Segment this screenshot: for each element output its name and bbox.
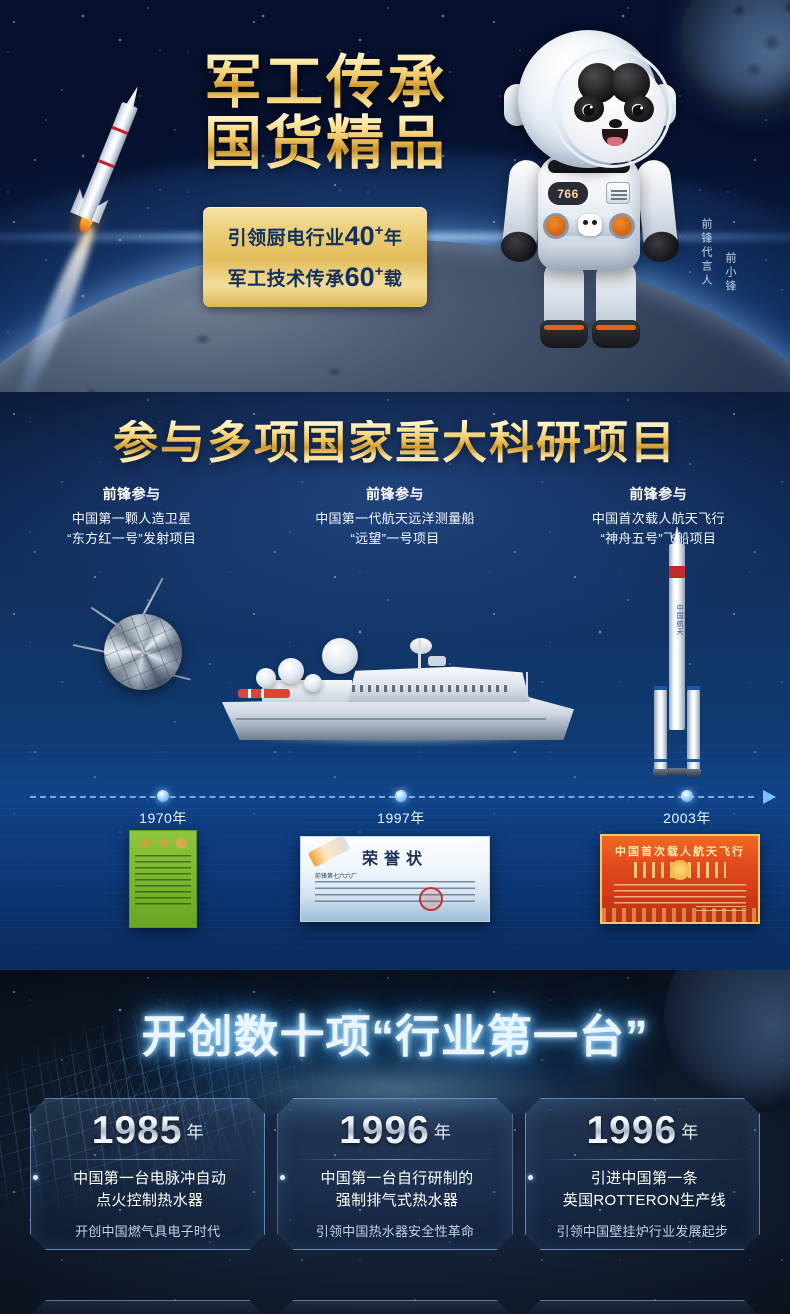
next-card-3[interactable] — [525, 1300, 760, 1314]
milestone-cards: 1985年 中国第一台电脉冲自动 点火控制热水器 开创中国燃气具电子时代 199… — [0, 1098, 790, 1250]
mascot-suit-mini-panda-icon — [578, 214, 602, 236]
panda-astronaut-mascot: 766 — [494, 22, 686, 362]
badge-row2-prefix: 军工技术传承 — [228, 269, 345, 290]
badge-row-2: 军工技术传承60+载 — [213, 257, 417, 298]
card-2-year-row: 1996年 — [288, 1111, 501, 1150]
mascot-helmet-visor — [552, 48, 672, 168]
rocket-red-band — [669, 566, 685, 578]
mascot-helmet — [518, 30, 658, 168]
mascot-panda-face — [562, 61, 666, 163]
ship-radar-dish-2 — [278, 658, 304, 684]
hero-section: 军工传承 国货精品 引领厨电行业40+年 军工技术传承60+载 766 — [0, 0, 790, 392]
mascot-mouth — [602, 129, 628, 146]
card-1-main-line-1: 中国第一台电脉冲自动 — [45, 1168, 254, 1190]
project-column-spacecraft: 前锋参与 中国首次载人航天飞行 “神舟五号”飞船项目 — [527, 484, 790, 548]
ship-aft-mast — [526, 672, 528, 698]
badge-row1-number: 40 — [345, 221, 375, 251]
rocket-body — [77, 102, 138, 221]
mascot-left-boot — [540, 320, 588, 348]
project-1-line-2: “东方红一号”发射项目 — [12, 529, 251, 549]
milestone-card-1996-water-heater[interactable]: 1996年 中国第一台自行研制的 强制排气式热水器 引领中国热水器安全性革命 — [277, 1098, 512, 1250]
mascot-right-hand — [642, 230, 681, 264]
project-column-satellite: 前锋参与 中国第一颗人造卫星 “东方红一号”发射项目 — [0, 484, 263, 548]
mascot-left-hand — [499, 230, 538, 264]
mascot-suit-right-knob — [612, 216, 632, 236]
ship-hull — [222, 696, 574, 740]
card-1-year-unit: 年 — [187, 1123, 204, 1142]
project-1-lead: 前锋参与 — [12, 484, 251, 504]
project-3-lead: 前锋参与 — [539, 484, 778, 504]
timeline-year-1997: 1997年 — [377, 808, 425, 828]
certificate-3-title: 中国首次载人航天飞行 — [615, 843, 745, 859]
card-3-main-line-1: 引进中国第一条 — [540, 1168, 749, 1190]
rocket-nozzle-center — [668, 768, 686, 776]
badge-row1-unit: 年 — [384, 228, 403, 248]
card-3-main-line-2: 英国ROTTERON生产线 — [540, 1190, 749, 1212]
card-3-subtitle: 引领中国壁挂炉行业发展起步 — [536, 1221, 749, 1240]
mascot-spacesuit-torso: 766 — [538, 154, 640, 270]
ship-lifeboats — [238, 689, 290, 698]
badge-row1-superscript: + — [375, 222, 384, 239]
card-1-main-text: 中国第一台电脉冲自动 点火控制热水器 — [41, 1168, 254, 1212]
card-2-main-text: 中国第一台自行研制的 强制排气式热水器 — [288, 1168, 501, 1212]
next-milestone-row-peek — [0, 1300, 790, 1314]
card-1-year-row: 1985年 — [41, 1111, 254, 1150]
satellite-body — [104, 614, 182, 690]
hero-title-line-1: 军工传承 — [176, 52, 476, 113]
card-3-year-row: 1996年 — [536, 1111, 749, 1150]
certificate-3-body-text — [614, 884, 746, 906]
mascot-name-label: 前小锋 — [722, 252, 738, 294]
certificate-2-body-text — [315, 881, 475, 907]
mascot-role-label: 前锋代言人 — [698, 218, 714, 288]
project-2-line-1: 中国第一代航天远洋测量船 — [275, 509, 514, 529]
badge-row2-number: 60 — [345, 262, 375, 292]
product-detail-page: 军工传承 国货精品 引领厨电行业40+年 军工技术传承60+载 766 — [0, 0, 790, 1314]
moon-image — [680, 0, 790, 114]
card-2-main-line-2: 强制排气式热水器 — [292, 1190, 501, 1212]
milestone-card-1985[interactable]: 1985年 中国第一台电脉冲自动 点火控制热水器 开创中国燃气具电子时代 — [30, 1098, 265, 1250]
mascot-nose — [609, 119, 622, 128]
certificate-green-1970[interactable] — [129, 830, 197, 928]
certificate-2-seal-stamp — [419, 887, 443, 911]
certificate-rocket-graphic — [308, 836, 351, 867]
hero-headline: 军工传承 国货精品 — [176, 52, 476, 175]
rocket-nozzle-left — [653, 769, 668, 777]
card-3-divider — [540, 1159, 745, 1160]
card-1-year: 1985 — [92, 1111, 183, 1150]
rocket-launch-image — [42, 96, 182, 366]
mascot-right-boot — [592, 320, 640, 348]
mascot-left-leg — [544, 260, 584, 348]
ship-superstructure — [340, 662, 530, 702]
timeline-year-2003: 2003年 — [663, 808, 711, 828]
national-projects-section: 参与多项国家重大科研项目 前锋参与 中国第一颗人造卫星 “东方红一号”发射项目 … — [0, 392, 790, 970]
section3-title: 开创数十项“行业第一台” — [0, 1000, 790, 1065]
project-3-line-1: 中国首次载人航天飞行 — [539, 509, 778, 529]
industry-firsts-section: 开创数十项“行业第一台” 1985年 中国第一台电脉冲自动 点火控制热水器 开创… — [0, 970, 790, 1314]
card-1-subtitle: 开创中国燃气具电子时代 — [41, 1221, 254, 1240]
badge-row2-unit: 载 — [384, 269, 403, 289]
ship-mast — [418, 638, 421, 668]
card-3-year-unit: 年 — [681, 1123, 698, 1142]
card-2-subtitle: 引领中国热水器安全性革命 — [288, 1221, 501, 1240]
rocket-booster-right — [687, 686, 700, 770]
mascot-right-arm — [635, 158, 679, 257]
rocket-booster-left — [654, 686, 667, 770]
timeline-axis — [30, 796, 754, 798]
card-2-divider — [292, 1159, 497, 1160]
card-2-year: 1996 — [339, 1111, 430, 1150]
ship-windows — [352, 685, 512, 692]
certificates-row: 荣誉状 前锋第七六六厂 中国首次载人航天飞行 — [0, 830, 790, 950]
rocket-agency-label: 中国航天 — [671, 604, 683, 636]
mascot-suit-logo-patch — [606, 182, 630, 204]
yuanwang-tracking-ship-image — [222, 628, 574, 746]
card-1-main-line-2: 点火控制热水器 — [45, 1190, 254, 1212]
card-1-bullet-icon — [33, 1175, 38, 1180]
mascot-suit-number-patch: 766 — [548, 182, 588, 205]
project-columns: 前锋参与 中国第一颗人造卫星 “东方红一号”发射项目 前锋参与 中国第一代航天远… — [0, 484, 790, 548]
certificate-3-emblem — [670, 860, 690, 880]
timeline-year-1970: 1970年 — [139, 808, 187, 828]
ship-radar-dish-4 — [304, 674, 322, 692]
mascot-right-leg — [596, 260, 636, 348]
ship-radome — [410, 638, 432, 654]
ship-radar-dish-1 — [322, 638, 358, 674]
project-timeline: 1970年 1997年 2003年 — [0, 796, 790, 797]
badge-row2-superscript: + — [375, 263, 384, 280]
card-3-year: 1996 — [586, 1111, 677, 1150]
timeline-dot-2003 — [681, 790, 693, 802]
timeline-dot-1970 — [157, 790, 169, 802]
card-2-year-unit: 年 — [434, 1123, 451, 1142]
card-2-bullet-icon — [280, 1175, 285, 1180]
card-3-main-text: 引进中国第一条 英国ROTTERON生产线 — [536, 1168, 749, 1212]
certificate-red-2003[interactable]: 中国首次载人航天飞行 — [600, 834, 760, 924]
hero-credentials-badge: 引领厨电行业40+年 军工技术传承60+载 — [203, 207, 427, 307]
ship-mast-platform — [428, 656, 446, 666]
long-march-rocket-image: 中国航天 — [648, 544, 706, 770]
card-3-bullet-icon — [528, 1175, 533, 1180]
next-card-2[interactable] — [277, 1300, 512, 1314]
timeline-dot-1997 — [395, 790, 407, 802]
badge-row-1: 引领厨电行业40+年 — [213, 216, 417, 257]
certificate-2-title: 荣誉状 — [362, 845, 428, 869]
project-column-ship: 前锋参与 中国第一代航天远洋测量船 “远望”一号项目 — [263, 484, 526, 548]
project-2-lead: 前锋参与 — [275, 484, 514, 504]
certificate-2-subtitle: 前锋第七六六厂 — [315, 871, 357, 880]
project-2-line-2: “远望”一号项目 — [275, 529, 514, 549]
mascot-suit-left-knob — [546, 216, 566, 236]
project-1-line-1: 中国第一颗人造卫星 — [12, 509, 251, 529]
ship-radar-dish-3 — [256, 668, 276, 688]
badge-row1-prefix: 引领厨电行业 — [228, 228, 345, 249]
next-card-1[interactable] — [30, 1300, 265, 1314]
hero-title-line-2: 国货精品 — [176, 113, 476, 174]
milestone-card-1996-production-line[interactable]: 1996年 引进中国第一条 英国ROTTERON生产线 引领中国壁挂炉行业发展起… — [525, 1098, 760, 1250]
certificate-3-signature — [696, 906, 746, 914]
card-1-divider — [45, 1159, 250, 1160]
certificate-honor-1997[interactable]: 荣誉状 前锋第七六六厂 — [300, 836, 490, 922]
rocket-nozzle-right — [686, 769, 701, 777]
timeline-arrow-icon — [763, 790, 776, 804]
section2-title: 参与多项国家重大科研项目 — [0, 420, 790, 465]
card-2-main-line-1: 中国第一台自行研制的 — [292, 1168, 501, 1190]
dongfanghong-satellite-image — [86, 600, 196, 700]
